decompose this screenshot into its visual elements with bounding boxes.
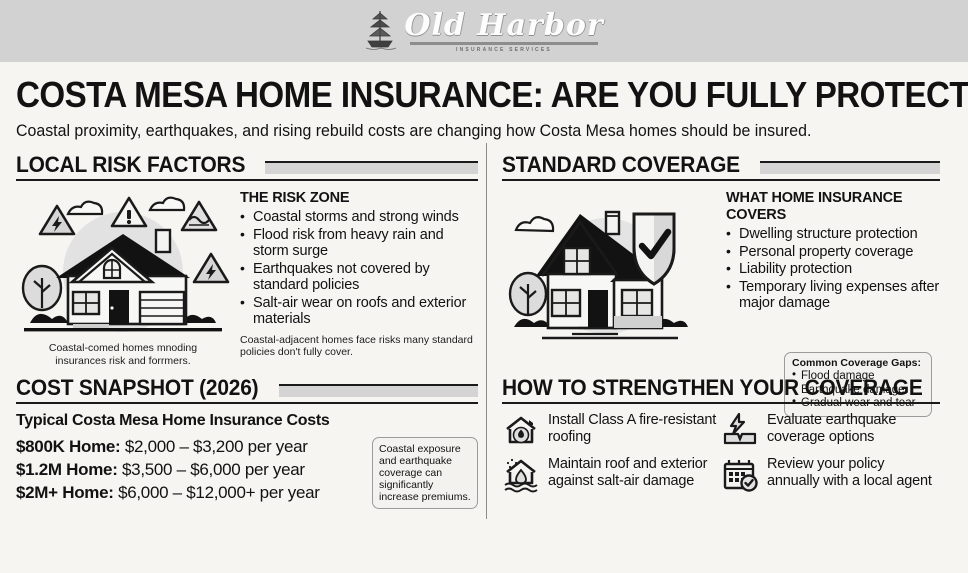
section-title-local-risk: LOCAL RISK FACTORS (16, 153, 245, 176)
cost-label: $1.2M Home: (16, 460, 118, 479)
house-with-flame-icon (502, 411, 540, 449)
cost-label: $2M+ Home: (16, 483, 114, 502)
brand-rule (410, 42, 598, 45)
cost-table: $800K Home: $2,000 – $3,200 per year $1.… (16, 435, 366, 509)
section-header: LOCAL RISK FACTORS (16, 153, 478, 176)
tip-label: Install Class A fire-resistant roofing (548, 411, 721, 449)
risk-zone-note: Coastal-adjacent homes face risks many s… (240, 334, 478, 359)
coverage-list-block: WHAT HOME INSURANCE COVERS Dwelling stru… (726, 190, 940, 342)
section-underline (16, 402, 478, 404)
cost-premium-callout: Coastal exposure and earthquake coverage… (372, 437, 478, 509)
infographic-page: Old Harbor INSURANCE SERVICES COSTA MESA… (0, 0, 968, 573)
section-underline (502, 402, 940, 404)
list-title-risk-zone: THE RISK ZONE (240, 190, 478, 207)
table-row: $800K Home: $2,000 – $3,200 per year (16, 435, 366, 458)
column-divider-bottom (486, 371, 487, 519)
sailing-ship-icon (364, 9, 398, 53)
list-item: Flood risk from heavy rain and storm sur… (240, 227, 478, 260)
top-sections-grid: LOCAL RISK FACTORS (0, 141, 968, 367)
section-strengthen-coverage: HOW TO STRENGTHEN YOUR COVERAGE (478, 376, 940, 509)
list-item: Coastal storms and strong winds (240, 209, 478, 226)
section-header: STANDARD COVERAGE (502, 153, 940, 176)
lightning-over-cracked-ground-icon (721, 411, 759, 449)
section-title-cost-snapshot: COST SNAPSHOT (2026) (16, 376, 258, 399)
section-header: COST SNAPSHOT (2026) (16, 376, 478, 399)
calendar-with-check-icon (721, 455, 759, 493)
section-header: HOW TO STRENGTHEN YOUR COVERAGE (502, 376, 940, 399)
list-item: Earthquakes not covered by standard poli… (240, 261, 478, 294)
headline-block: COSTA MESA HOME INSURANCE: ARE YOU FULLY… (0, 62, 968, 141)
list-item: Review your policy annually with a local… (721, 455, 940, 493)
list-item: Evaluate earthquake coverage options (721, 411, 940, 449)
list-item: Dwelling structure protection (726, 226, 940, 243)
list-item: Salt-air wear on roofs and exterior mate… (240, 295, 478, 328)
cost-value: $2,000 – $3,200 per year (125, 437, 308, 456)
list-title-coverage: WHAT HOME INSURANCE COVERS (726, 190, 940, 224)
bottom-sections-grid: COST SNAPSHOT (2026) Typical Costa Mesa … (0, 367, 968, 509)
section-header-bar (265, 161, 478, 174)
list-item: Temporary living expenses after major da… (726, 279, 940, 312)
brand-header-band: Old Harbor INSURANCE SERVICES (0, 0, 968, 62)
list-item: Personal property coverage (726, 244, 940, 261)
list-item: Maintain roof and exterior against salt-… (502, 455, 721, 493)
section-header-bar (760, 161, 940, 174)
list-item: Liability protection (726, 261, 940, 278)
tip-label: Review your policy annually with a local… (767, 455, 940, 493)
strengthen-tips-list: Install Class A fire-resistant roofing E… (502, 411, 940, 499)
cost-subtitle: Typical Costa Mesa Home Insurance Costs (16, 411, 478, 430)
section-title-strengthen: HOW TO STRENGTHEN YOUR COVERAGE (502, 376, 923, 399)
illustration-caption: Coastal-comed homes mnoding insurances r… (16, 342, 230, 367)
section-local-risk-factors: LOCAL RISK FACTORS (16, 153, 478, 367)
page-title: COSTA MESA HOME INSURANCE: ARE YOU FULLY… (16, 76, 877, 114)
house-with-protection-shield-illustration (502, 190, 716, 342)
house-with-water-droplet-icon (502, 455, 540, 493)
table-row: $2M+ Home: $6,000 – $12,000+ per year (16, 481, 366, 504)
cost-value: $6,000 – $12,000+ per year (118, 483, 320, 502)
section-cost-snapshot: COST SNAPSHOT (2026) Typical Costa Mesa … (16, 376, 478, 509)
brand-name: Old Harbor (404, 11, 603, 41)
list-item: Install Class A fire-resistant roofing (502, 411, 721, 449)
tip-label: Evaluate earthquake coverage options (767, 411, 940, 449)
house-with-hazard-warning-signs-illustration: Coastal-comed homes mnoding insurances r… (16, 190, 230, 367)
coverage-bullets: Dwelling structure protection Personal p… (726, 226, 940, 312)
risk-zone-list-block: THE RISK ZONE Coastal storms and strong … (240, 190, 478, 367)
brand-tagline: INSURANCE SERVICES (456, 47, 552, 53)
callout-text: Coastal exposure and earthquake coverage… (379, 443, 471, 503)
section-title-standard-coverage: STANDARD COVERAGE (502, 153, 740, 176)
page-subtitle: Coastal proximity, earthquakes, and risi… (16, 122, 919, 141)
tip-label: Maintain roof and exterior against salt-… (548, 455, 721, 493)
section-standard-coverage: STANDARD COVERAGE (478, 153, 940, 367)
cost-label: $800K Home: (16, 437, 120, 456)
section-header-bar (279, 384, 478, 397)
cost-value: $3,500 – $6,000 per year (122, 460, 305, 479)
risk-zone-bullets: Coastal storms and strong winds Flood ri… (240, 209, 478, 328)
section-underline (16, 179, 478, 181)
section-underline (502, 179, 940, 181)
brand-logo: Old Harbor INSURANCE SERVICES (364, 9, 603, 53)
table-row: $1.2M Home: $3,500 – $6,000 per year (16, 458, 366, 481)
